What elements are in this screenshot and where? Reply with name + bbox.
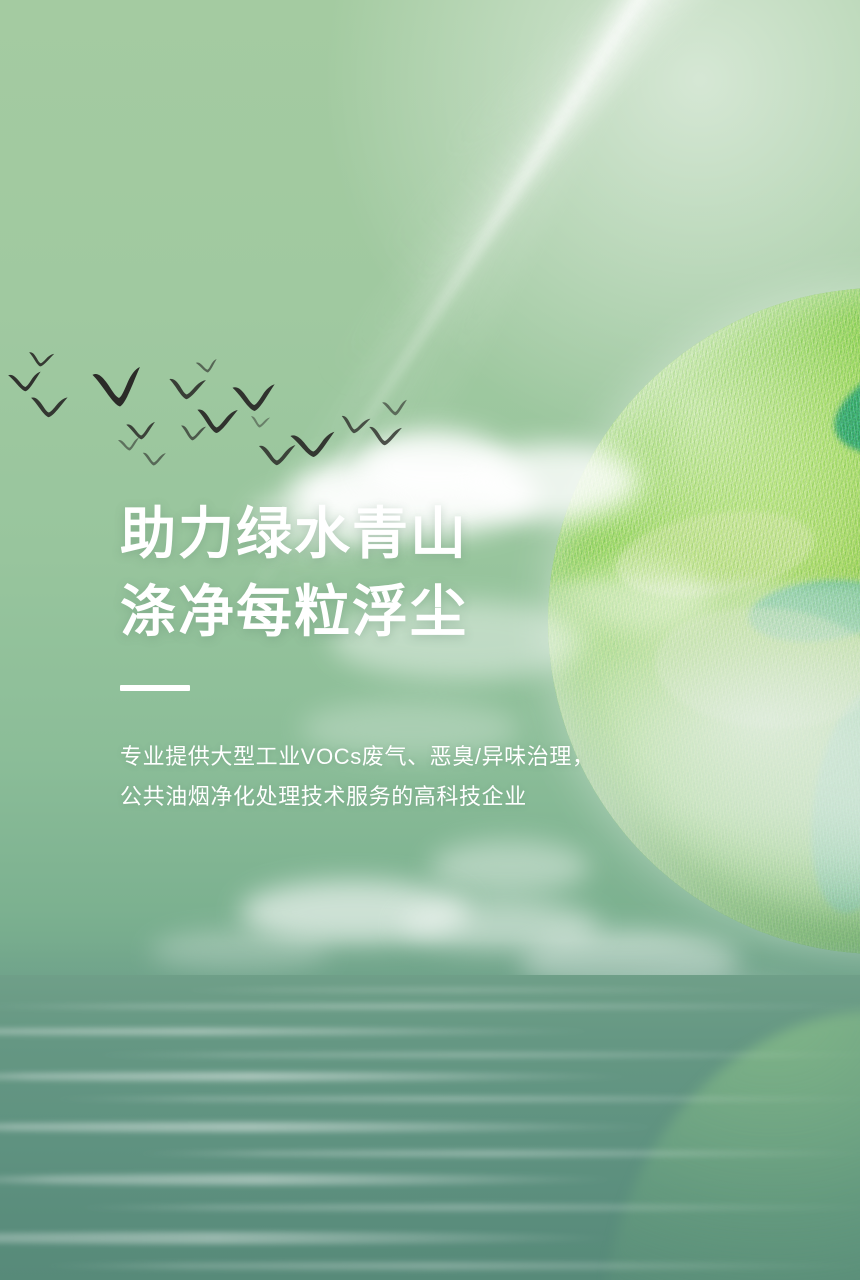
bird-icon — [27, 351, 54, 369]
bird-icon — [195, 407, 238, 435]
bird-icon — [249, 415, 270, 429]
wave-line — [43, 1096, 860, 1102]
flying-birds — [0, 330, 520, 460]
subtitle-line-1: 专业提供大型工业VOCs废气、恶臭/异味治理， — [120, 737, 680, 777]
bird-icon — [167, 377, 206, 402]
wave-line — [69, 1204, 860, 1211]
headline-divider — [120, 685, 190, 691]
bird-icon — [7, 371, 42, 393]
wave-line — [129, 1150, 860, 1157]
bird-icon — [117, 437, 140, 452]
bird-icon — [367, 425, 402, 447]
headline-line-1: 助力绿水青山 — [120, 495, 680, 573]
bird-icon — [339, 414, 371, 436]
hero-text-block: 助力绿水青山 涤净每粒浮尘 专业提供大型工业VOCs废气、恶臭/异味治理， 公共… — [120, 495, 680, 817]
wave-line — [0, 1004, 860, 1009]
bird-icon — [381, 399, 408, 417]
hero-banner: 助力绿水青山 涤净每粒浮尘 专业提供大型工业VOCs废气、恶臭/异味治理， 公共… — [0, 0, 860, 1280]
bird-icon — [91, 365, 145, 410]
wave-line — [86, 1052, 860, 1058]
cloud — [430, 840, 590, 894]
subtitle-line-2: 公共油烟净化处理技术服务的高科技企业 — [120, 777, 680, 817]
bird-icon — [142, 451, 167, 466]
wave-line — [172, 988, 774, 992]
wave-line — [34, 1262, 860, 1270]
headline-line-2: 涤净每粒浮尘 — [120, 573, 680, 651]
bird-icon — [30, 395, 69, 418]
bird-icon — [289, 431, 336, 459]
bird-icon — [195, 359, 219, 375]
